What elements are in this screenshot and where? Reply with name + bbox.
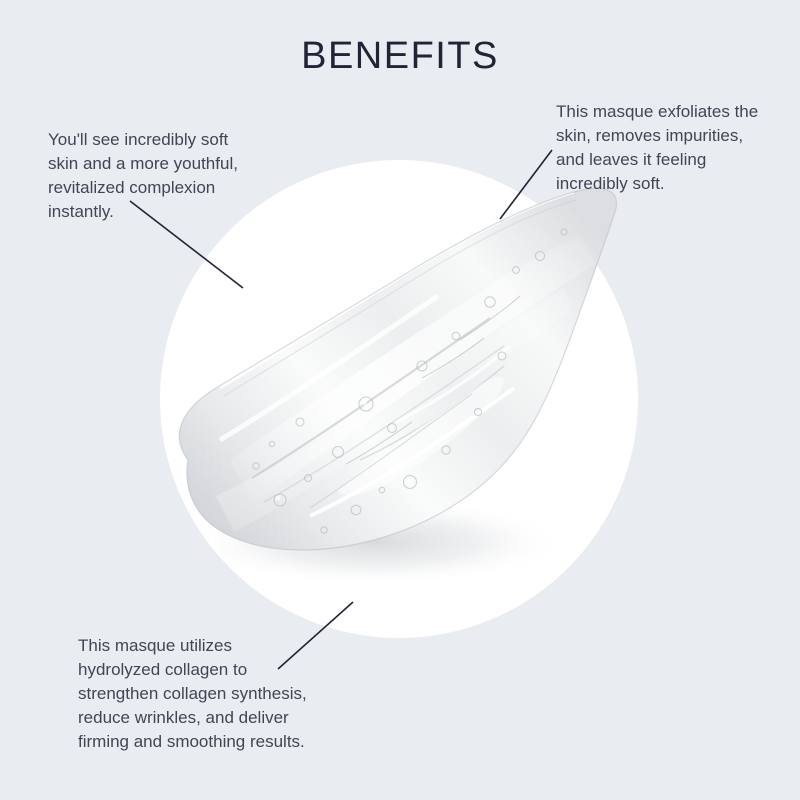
benefits-infographic: BENEFITS [0,0,800,800]
callout-top-right: This masque exfoliates the skin, removes… [556,100,796,196]
page-title: BENEFITS [0,36,800,78]
callout-bottom-left: This masque utilizes hydrolyzed collagen… [78,634,353,754]
callout-top-left: You'll see incredibly soft skin and a mo… [48,128,283,224]
hero-circle-backdrop [160,160,638,638]
